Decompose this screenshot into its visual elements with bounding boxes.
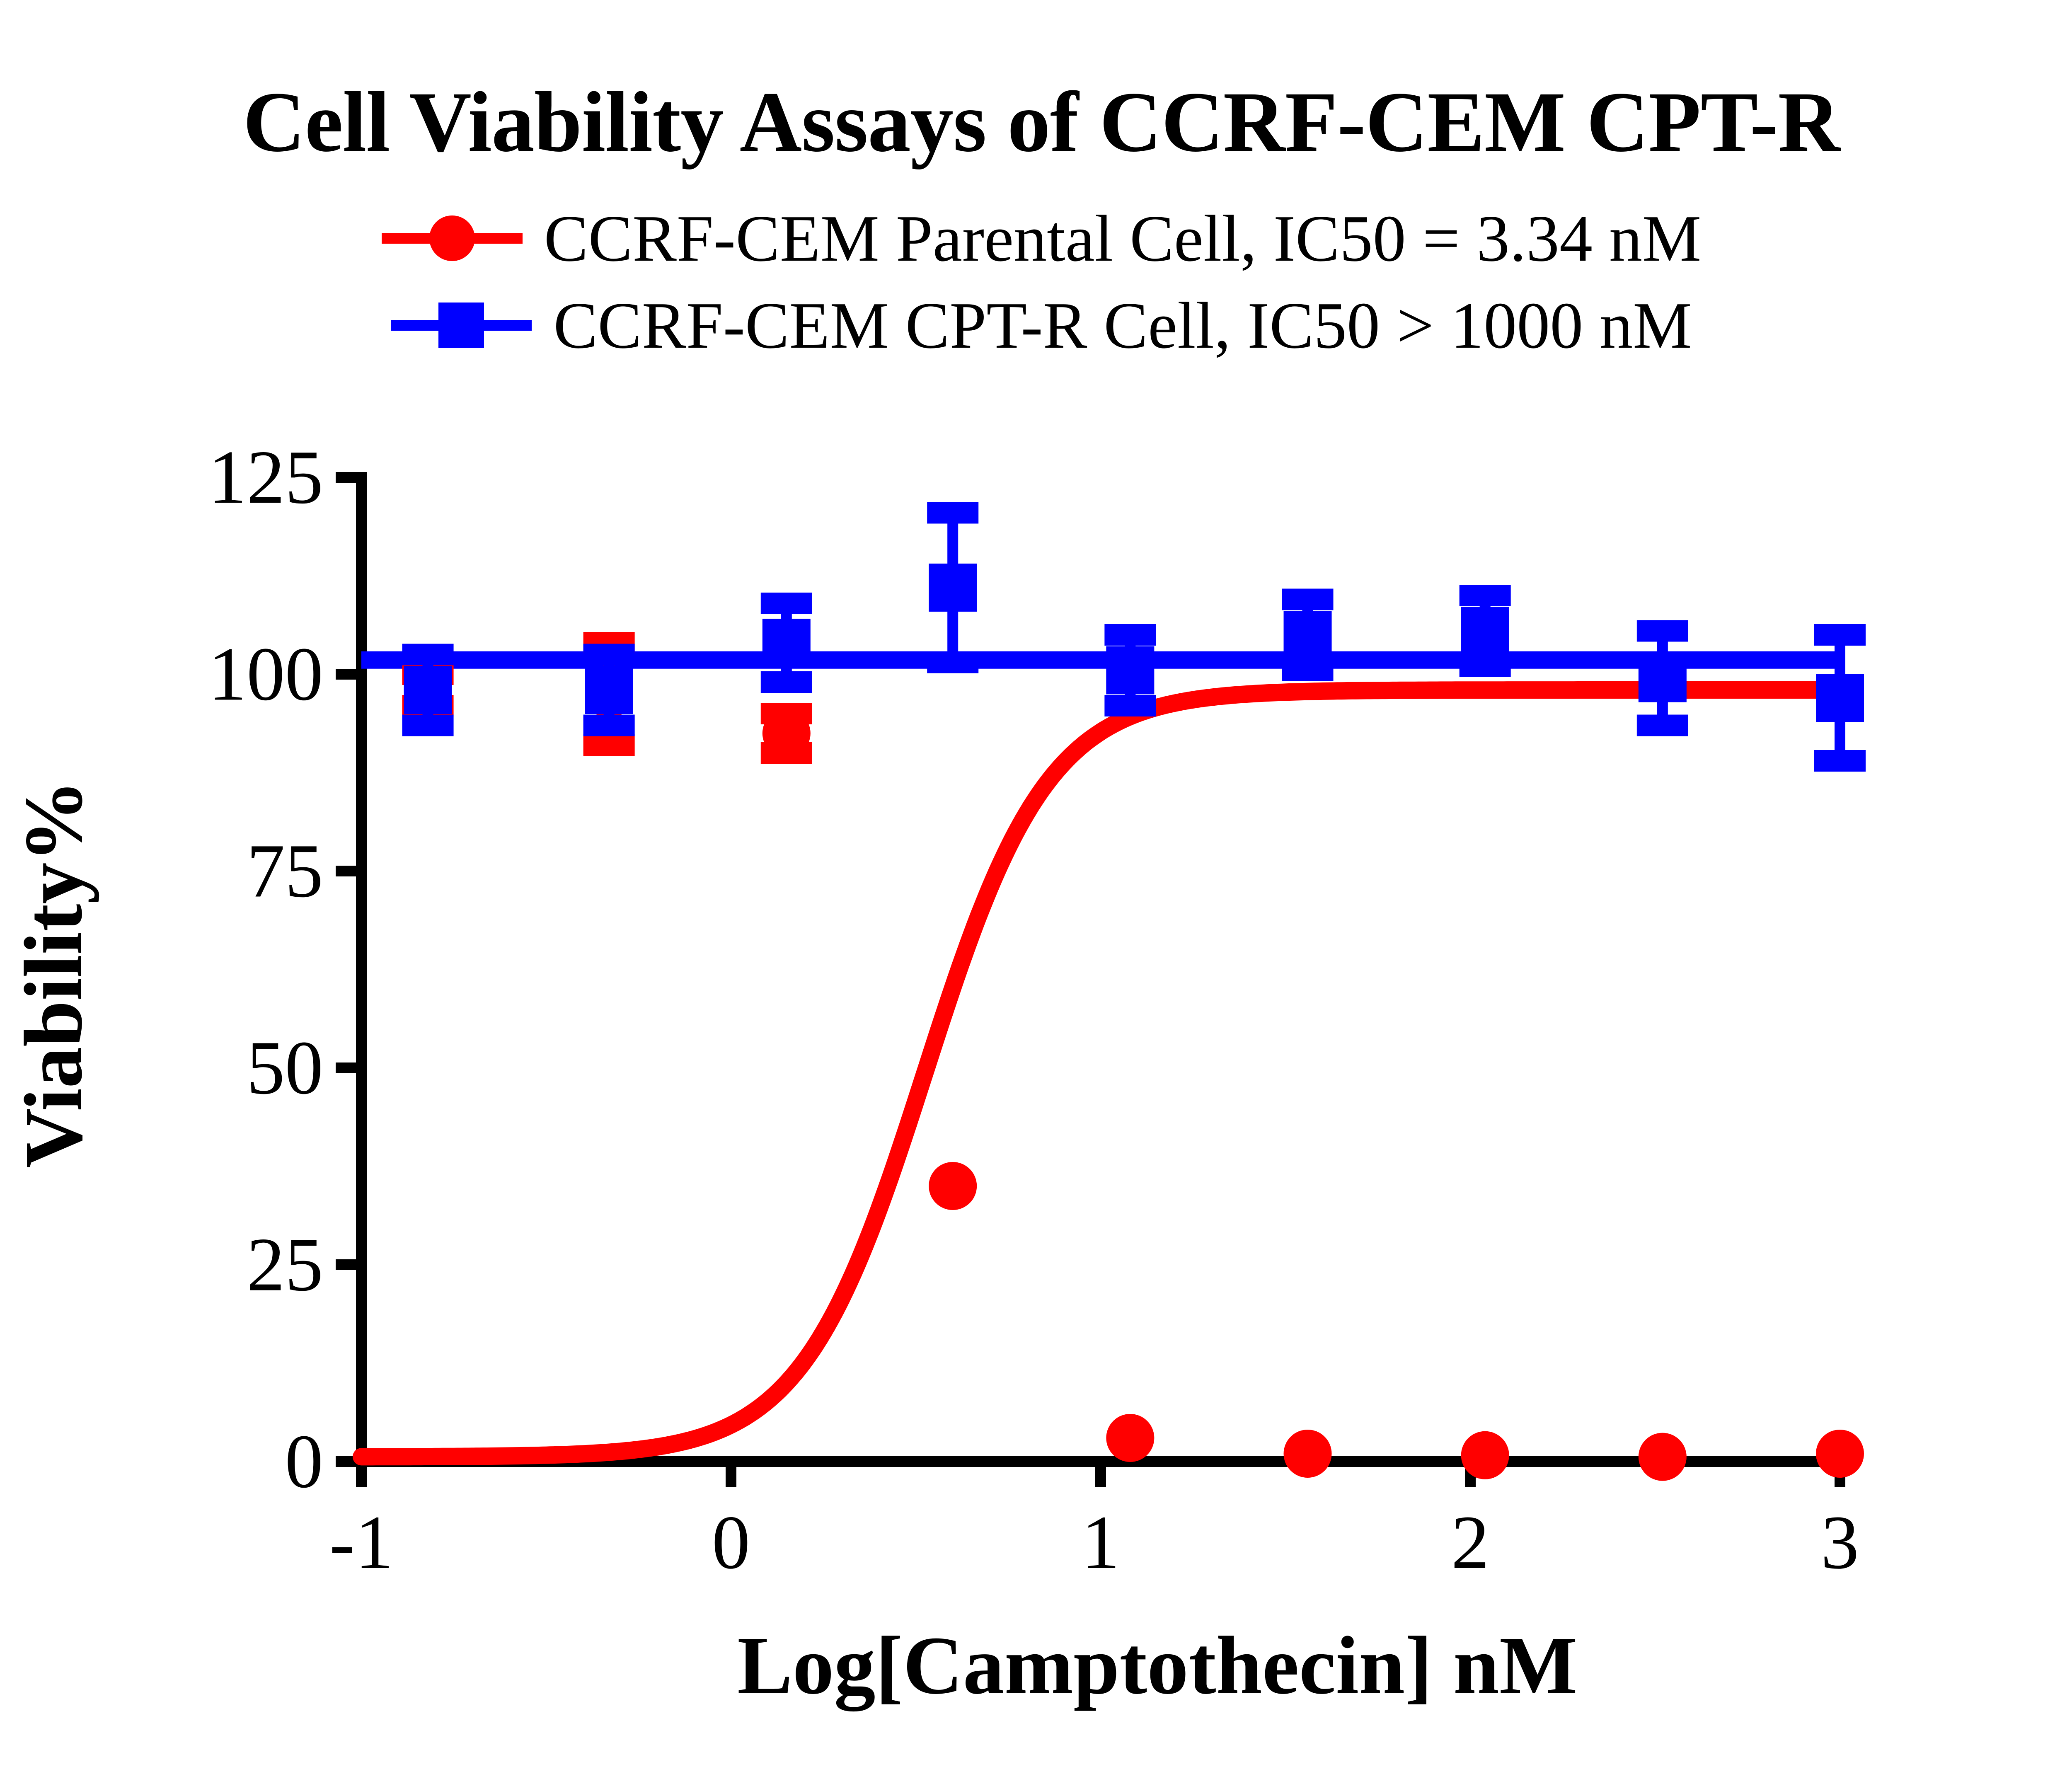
data-point-marker xyxy=(1639,1433,1687,1481)
data-point-marker xyxy=(1816,1430,1864,1478)
plot-canvas xyxy=(0,0,2072,1791)
axes-lines xyxy=(336,472,1845,1487)
red-fit-curve xyxy=(361,690,1840,1457)
data-point-marker xyxy=(1639,654,1687,702)
data-point-marker xyxy=(404,666,452,714)
series-parental xyxy=(402,643,1864,1481)
data-point-marker xyxy=(762,709,811,758)
data-point-marker xyxy=(929,564,977,612)
data-point-marker xyxy=(1106,1414,1154,1462)
data-point-marker xyxy=(1106,646,1154,695)
data-series-layer xyxy=(361,513,1866,1481)
data-point-marker xyxy=(1816,674,1864,722)
data-point-marker xyxy=(929,1162,977,1210)
data-point-marker xyxy=(1461,1431,1509,1479)
data-point-marker xyxy=(1284,611,1332,659)
data-point-marker xyxy=(1461,607,1509,655)
data-point-marker xyxy=(762,619,811,667)
data-point-marker xyxy=(1284,1430,1332,1478)
data-point-marker xyxy=(585,666,633,714)
chart-figure: Cell Viability Assays of CCRF-CEM CPT-R … xyxy=(0,0,2072,1791)
